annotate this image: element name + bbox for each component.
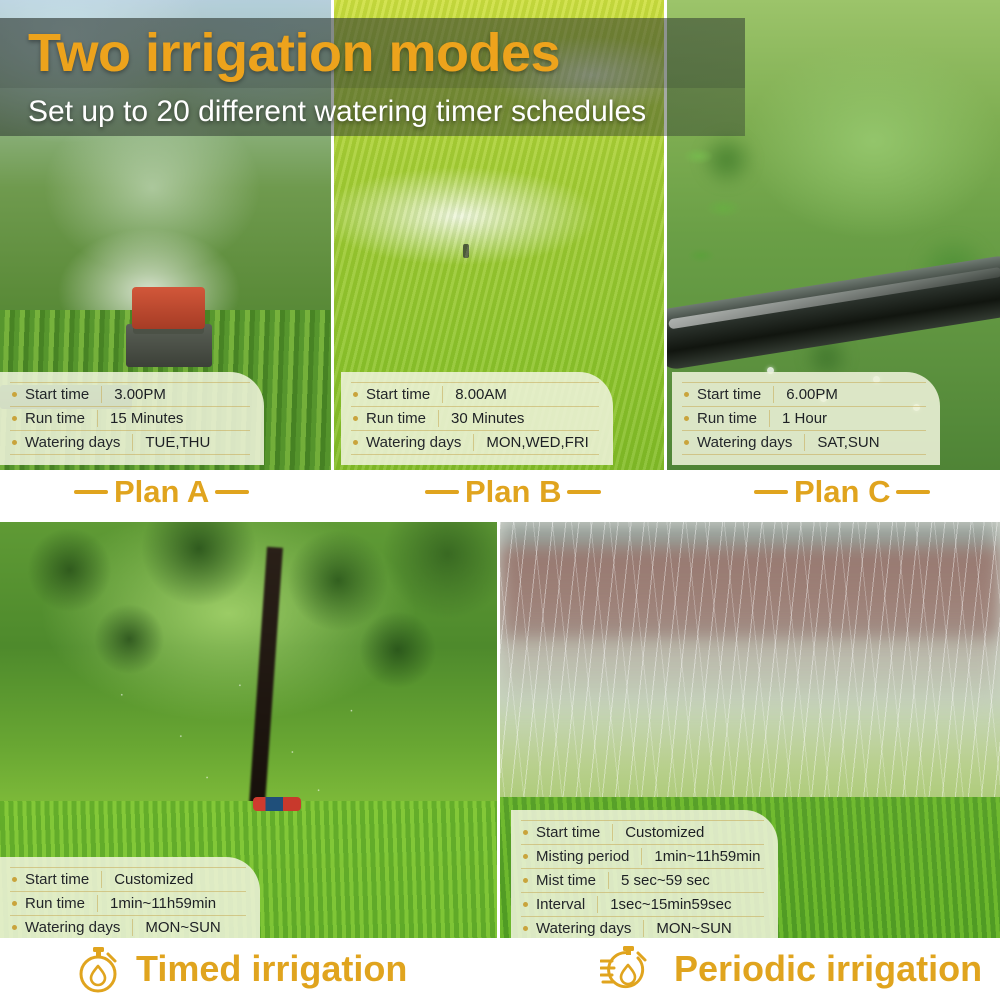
spec-value: 30 Minutes (451, 410, 524, 427)
spec-key: Mist time (536, 872, 596, 889)
spec-value: 1 Hour (782, 410, 827, 427)
rotary-sprinkler (253, 797, 301, 811)
divider (132, 919, 133, 936)
spec-row: Run time 1min~11h59min (10, 892, 246, 916)
divider (97, 895, 98, 912)
spec-key: Watering days (536, 920, 631, 937)
periodic-irrigation-label-text: Periodic irrigation (674, 948, 982, 990)
spec-row: Start time Customized (521, 820, 764, 845)
stopwatch-droplet-repeat-icon (600, 944, 660, 994)
bullet-icon (353, 392, 358, 397)
divider (132, 434, 133, 451)
spec-key: Start time (366, 386, 430, 403)
sprinkler-nozzle (463, 244, 469, 258)
bullet-icon (12, 877, 17, 882)
spec-key: Start time (25, 871, 89, 888)
spec-value: MON~SUN (656, 920, 731, 937)
dash-right (215, 490, 249, 494)
spec-row: Watering days MON,WED,FRI (351, 431, 599, 455)
spec-value: Customized (114, 871, 193, 888)
spec-value: 1min~11h59min (110, 895, 216, 912)
plan-a-label-text: Plan A (114, 474, 209, 510)
periodic-irrigation-spec-card: Start time Customized Misting period 1mi… (511, 810, 778, 951)
spec-key: Start time (536, 824, 600, 841)
spec-row: Start time 6.00PM (682, 382, 926, 407)
spec-value: 8.00AM (455, 386, 507, 403)
dash-left (754, 490, 788, 494)
spec-row: Misting period 1min~11h59min (521, 845, 764, 869)
spec-row: Watering days TUE,THU (10, 431, 250, 455)
divider (608, 872, 609, 889)
bullet-icon (353, 440, 358, 445)
bullet-icon (523, 830, 528, 835)
spec-row: Start time 3.00PM (10, 382, 250, 407)
divider (597, 896, 598, 913)
divider (804, 434, 805, 451)
spec-value: 1sec~15min59sec (610, 896, 731, 913)
spec-value: Customized (625, 824, 704, 841)
spec-value: 3.00PM (114, 386, 166, 403)
infographic-page: Two irrigation modes Set up to 20 differ… (0, 0, 1000, 1000)
spec-key: Start time (697, 386, 761, 403)
divider (643, 920, 644, 937)
sprinkler-base (126, 324, 212, 366)
bullet-icon (12, 416, 17, 421)
bullet-icon (12, 392, 17, 397)
divider (438, 410, 439, 427)
divider (101, 871, 102, 888)
spec-key: Watering days (25, 434, 120, 451)
divider (442, 386, 443, 403)
spec-value: 15 Minutes (110, 410, 183, 427)
spec-value: TUE,THU (145, 434, 210, 451)
spec-value: 6.00PM (786, 386, 838, 403)
spec-value: MON~SUN (145, 919, 220, 936)
bullet-icon (12, 901, 17, 906)
timed-irrigation-spec-card: Start time Customized Run time 1min~11h5… (0, 857, 260, 950)
spec-key: Run time (697, 410, 757, 427)
spec-row: Start time 8.00AM (351, 382, 599, 407)
plan-b-label: Plan B (425, 474, 601, 510)
divider (101, 386, 102, 403)
spec-key: Interval (536, 896, 585, 913)
divider (473, 434, 474, 451)
timed-irrigation-label: Timed irrigation (74, 944, 407, 994)
dash-left (74, 490, 108, 494)
plan-a-spec-card: Start time 3.00PM Run time 15 Minutes Wa… (0, 372, 264, 465)
spec-row: Interval 1sec~15min59sec (521, 893, 764, 917)
bullet-icon (523, 878, 528, 883)
divider (641, 848, 642, 865)
bullet-icon (353, 416, 358, 421)
spec-row: Mist time 5 sec~59 sec (521, 869, 764, 893)
spec-row: Start time Customized (10, 867, 246, 892)
plan-a-label: Plan A (74, 474, 249, 510)
bullet-icon (523, 926, 528, 931)
divider (773, 386, 774, 403)
plan-b-spec-card: Start time 8.00AM Run time 30 Minutes Wa… (341, 372, 613, 465)
bullet-icon (684, 392, 689, 397)
periodic-irrigation-label: Periodic irrigation (600, 944, 982, 994)
bullet-icon (523, 902, 528, 907)
timed-irrigation-label-text: Timed irrigation (136, 948, 407, 990)
spec-value: SAT,SUN (817, 434, 879, 451)
divider (97, 410, 98, 427)
spec-key: Run time (25, 410, 85, 427)
spec-key: Watering days (366, 434, 461, 451)
divider (769, 410, 770, 427)
spec-value: MON,WED,FRI (486, 434, 589, 451)
spec-key: Watering days (697, 434, 792, 451)
divider (612, 824, 613, 841)
page-title: Two irrigation modes (28, 22, 748, 84)
plan-c-spec-card: Start time 6.00PM Run time 1 Hour Wateri… (672, 372, 940, 465)
stopwatch-droplet-icon (74, 944, 122, 994)
bullet-icon (684, 416, 689, 421)
spec-key: Run time (25, 895, 85, 912)
plan-c-label: Plan C (754, 474, 930, 510)
spec-key: Run time (366, 410, 426, 427)
bullet-icon (684, 440, 689, 445)
spec-key: Watering days (25, 919, 120, 936)
page-subtitle: Set up to 20 different watering timer sc… (28, 92, 758, 132)
dash-right (896, 490, 930, 494)
spec-row: Watering days MON~SUN (10, 916, 246, 940)
bullet-icon (12, 925, 17, 930)
bullet-icon (12, 440, 17, 445)
dash-right (567, 490, 601, 494)
spec-value: 1min~11h59min (654, 848, 760, 865)
spec-row: Watering days SAT,SUN (682, 431, 926, 455)
spec-row: Run time 30 Minutes (351, 407, 599, 431)
sprinkler-head (132, 287, 205, 329)
bullet-icon (523, 854, 528, 859)
spec-key: Start time (25, 386, 89, 403)
dash-left (425, 490, 459, 494)
spec-row: Run time 15 Minutes (10, 407, 250, 431)
spec-key: Misting period (536, 848, 629, 865)
plan-b-label-text: Plan B (465, 474, 561, 510)
spec-value: 5 sec~59 sec (621, 872, 710, 889)
spec-row: Run time 1 Hour (682, 407, 926, 431)
plan-c-label-text: Plan C (794, 474, 890, 510)
